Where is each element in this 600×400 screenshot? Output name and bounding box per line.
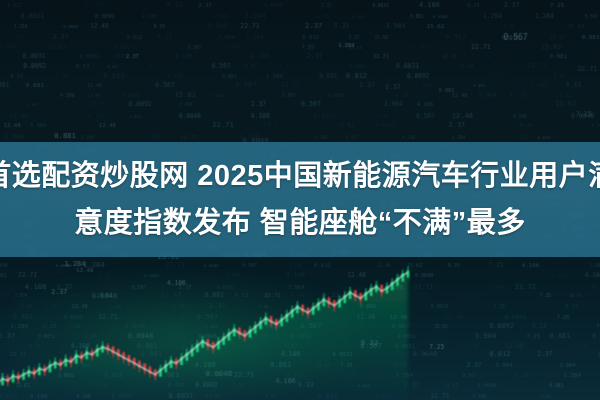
chart-area-fill — [0, 272, 408, 400]
headline-line-2: 意度指数发布 智能座舱“不满”最多 — [74, 200, 526, 247]
headline-overlay-band: 首选配资炒股网 2025中国新能源汽车行业用户满 意度指数发布 智能座舱“不满”… — [0, 142, 600, 257]
headline-line-1: 首选配资炒股网 2025中国新能源汽车行业用户满 — [0, 153, 600, 200]
screenshot-canvas: 首选配资炒股网 2025中国新能源汽车行业用户满 意度指数发布 智能座舱“不满”… — [0, 0, 600, 400]
